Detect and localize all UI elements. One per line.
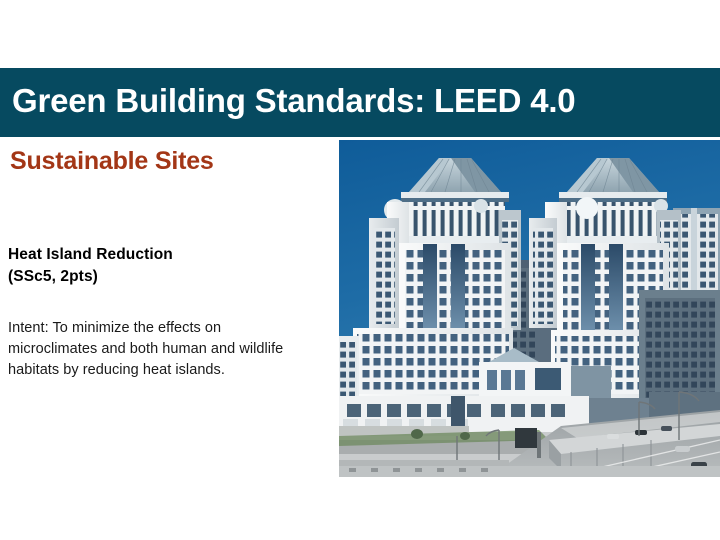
slide: Green Building Standards: LEED 4.0 Susta…	[0, 0, 720, 540]
intent-paragraph: Intent: To minimize the effects on micro…	[8, 318, 298, 381]
section-subtitle: Sustainable Sites	[10, 146, 214, 176]
building-photo	[339, 140, 720, 477]
building-photo-illustration	[339, 140, 720, 477]
left-content-column: Sustainable Sites Heat Island Reduction …	[0, 137, 339, 540]
credit-heading: Heat Island Reduction (SSc5, 2pts)	[8, 244, 328, 288]
title-band: Green Building Standards: LEED 4.0	[0, 68, 720, 137]
credit-heading-line2: (SSc5, 2pts)	[8, 266, 328, 288]
page-title: Green Building Standards: LEED 4.0	[12, 80, 712, 122]
credit-heading-line1: Heat Island Reduction	[8, 246, 173, 263]
